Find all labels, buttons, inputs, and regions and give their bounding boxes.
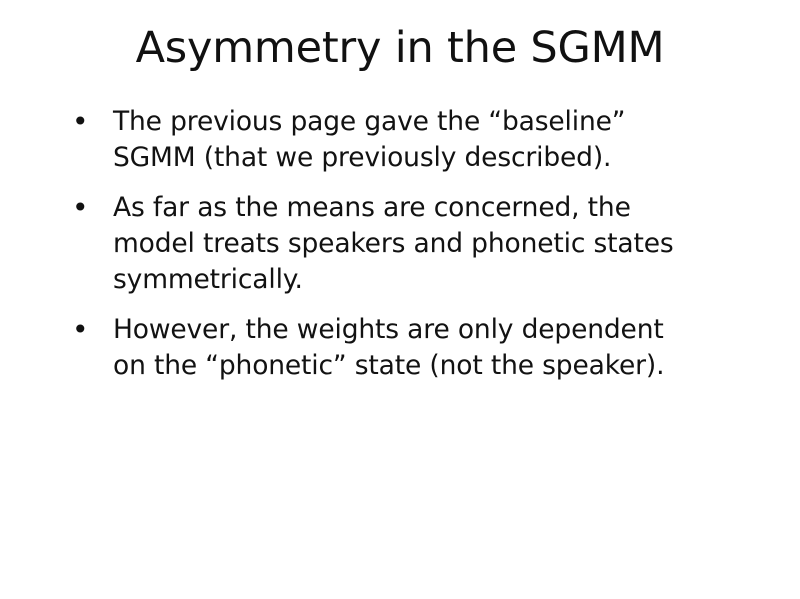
bullet-item-1-line-1: The previous page gave the “baseline” [113, 104, 720, 140]
bullet-point-icon: • [60, 312, 113, 348]
slide-title: Asymmetry in the SGMM [40, 22, 760, 74]
bullet-item-3-line-2: on the “phonetic” state (not the speaker… [113, 348, 720, 384]
bullet-point-icon: • [60, 104, 113, 140]
bullet-item-1-line-2: SGMM (that we previously described). [113, 140, 720, 176]
bullet-item-3: • However, the weights are only dependen… [60, 312, 720, 384]
bullet-item-3-text: However, the weights are only dependent … [113, 312, 720, 384]
bullet-item-1-text: The previous page gave the “baseline” SG… [113, 104, 720, 176]
bullet-item-2-line-1: As far as the means are concerned, the [113, 190, 720, 226]
presentation-slide: Asymmetry in the SGMM • The previous pag… [0, 0, 800, 599]
bullet-item-2-line-3: symmetrically. [113, 262, 720, 298]
bullet-item-2-line-2: model treats speakers and phonetic state… [113, 226, 720, 262]
bullet-point-icon: • [60, 190, 113, 226]
bullet-item-2-text: As far as the means are concerned, the m… [113, 190, 720, 298]
slide-body-bullet-list: • The previous page gave the “baseline” … [60, 104, 720, 384]
bullet-item-1: • The previous page gave the “baseline” … [60, 104, 720, 176]
bullet-item-3-line-1: However, the weights are only dependent [113, 312, 720, 348]
bullet-item-2: • As far as the means are concerned, the… [60, 190, 720, 298]
